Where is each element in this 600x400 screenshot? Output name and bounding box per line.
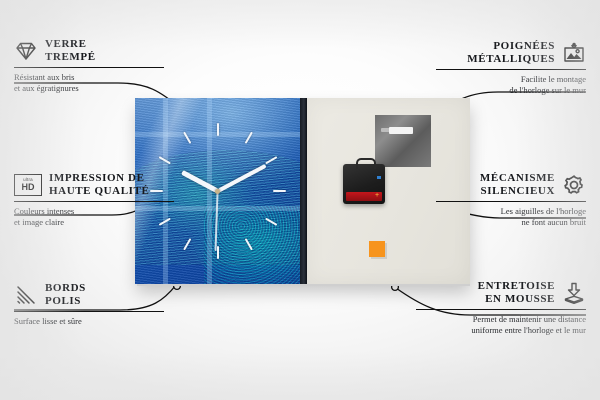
ultra-hd-icon: ultra HD xyxy=(14,174,42,196)
feature-divider xyxy=(14,67,164,68)
feature-poignees-metalliques: POIGNÉESMÉTALLIQUES Facilite le montaged… xyxy=(436,40,586,95)
feature-mecanisme-silencieux: MÉCANISMESILENCIEUX Les aiguilles de l'h… xyxy=(436,172,586,227)
feature-divider xyxy=(14,201,174,202)
feature-impression-haute-qualite: ultra HD IMPRESSION DEHAUTE QUALITÉ Coul… xyxy=(14,172,174,227)
feature-entretoise-en-mousse: ENTRETOISEEN MOUSSE Permet de maintenir … xyxy=(416,280,586,335)
feature-description: Permet de maintenir une distanceuniforme… xyxy=(416,314,586,335)
battery: + xyxy=(346,192,382,201)
product-image: + xyxy=(135,98,470,284)
feature-description: Surface lisse et sûre xyxy=(14,316,164,327)
infographic-canvas: + VERRETREMPÉ Résistant aux briset aux é… xyxy=(0,0,600,400)
mechanism-loop xyxy=(356,158,376,169)
picture-hanger-icon xyxy=(562,41,586,65)
feature-title: VERRETREMPÉ xyxy=(45,38,96,64)
feature-title: ENTRETOISEEN MOUSSE xyxy=(478,280,555,306)
arrow-into-layer-icon xyxy=(562,281,586,305)
clock-mechanism: + xyxy=(343,164,385,204)
feature-header: ultra HD IMPRESSION DEHAUTE QUALITÉ xyxy=(14,172,174,198)
feature-header: VERRETREMPÉ xyxy=(14,38,164,64)
feature-title: POIGNÉESMÉTALLIQUES xyxy=(467,40,555,66)
feature-description: Les aiguilles de l'horlogene font aucun … xyxy=(436,206,586,227)
feature-description: Facilite le montagede l'horloge sur le m… xyxy=(436,74,586,95)
gear-icon xyxy=(562,173,586,197)
feature-title: IMPRESSION DEHAUTE QUALITÉ xyxy=(49,172,149,198)
feature-description: Résistant aux briset aux égratignures xyxy=(14,72,164,93)
feature-header: MÉCANISMESILENCIEUX xyxy=(436,172,586,198)
mechanism-marking xyxy=(377,176,381,179)
feature-verre-trempe: VERRETREMPÉ Résistant aux briset aux égr… xyxy=(14,38,164,93)
hands-center-cap xyxy=(215,189,220,194)
battery-plus-icon: + xyxy=(374,193,380,199)
feature-bords-polis: BORDSPOLIS Surface lisse et sûre xyxy=(14,282,164,327)
foam-spacer xyxy=(369,241,385,257)
feature-title: MÉCANISMESILENCIEUX xyxy=(480,172,555,198)
hanger-slot xyxy=(389,127,413,134)
diamond-icon xyxy=(14,39,38,63)
tick-mark xyxy=(217,123,219,191)
feature-header: POIGNÉESMÉTALLIQUES xyxy=(436,40,586,66)
feature-divider xyxy=(436,69,586,70)
feature-header: BORDSPOLIS xyxy=(14,282,164,308)
feature-description: Couleurs intenseset image claire xyxy=(14,206,174,227)
feature-divider xyxy=(436,201,586,202)
feature-header: ENTRETOISEEN MOUSSE xyxy=(416,280,586,306)
glass-edge xyxy=(300,98,307,284)
feature-divider xyxy=(14,311,164,312)
tick-mark xyxy=(218,190,286,192)
feature-divider xyxy=(416,309,586,310)
feature-title: BORDSPOLIS xyxy=(45,282,86,308)
metal-hanger-plate xyxy=(375,115,431,167)
polished-edge-icon xyxy=(14,283,38,307)
